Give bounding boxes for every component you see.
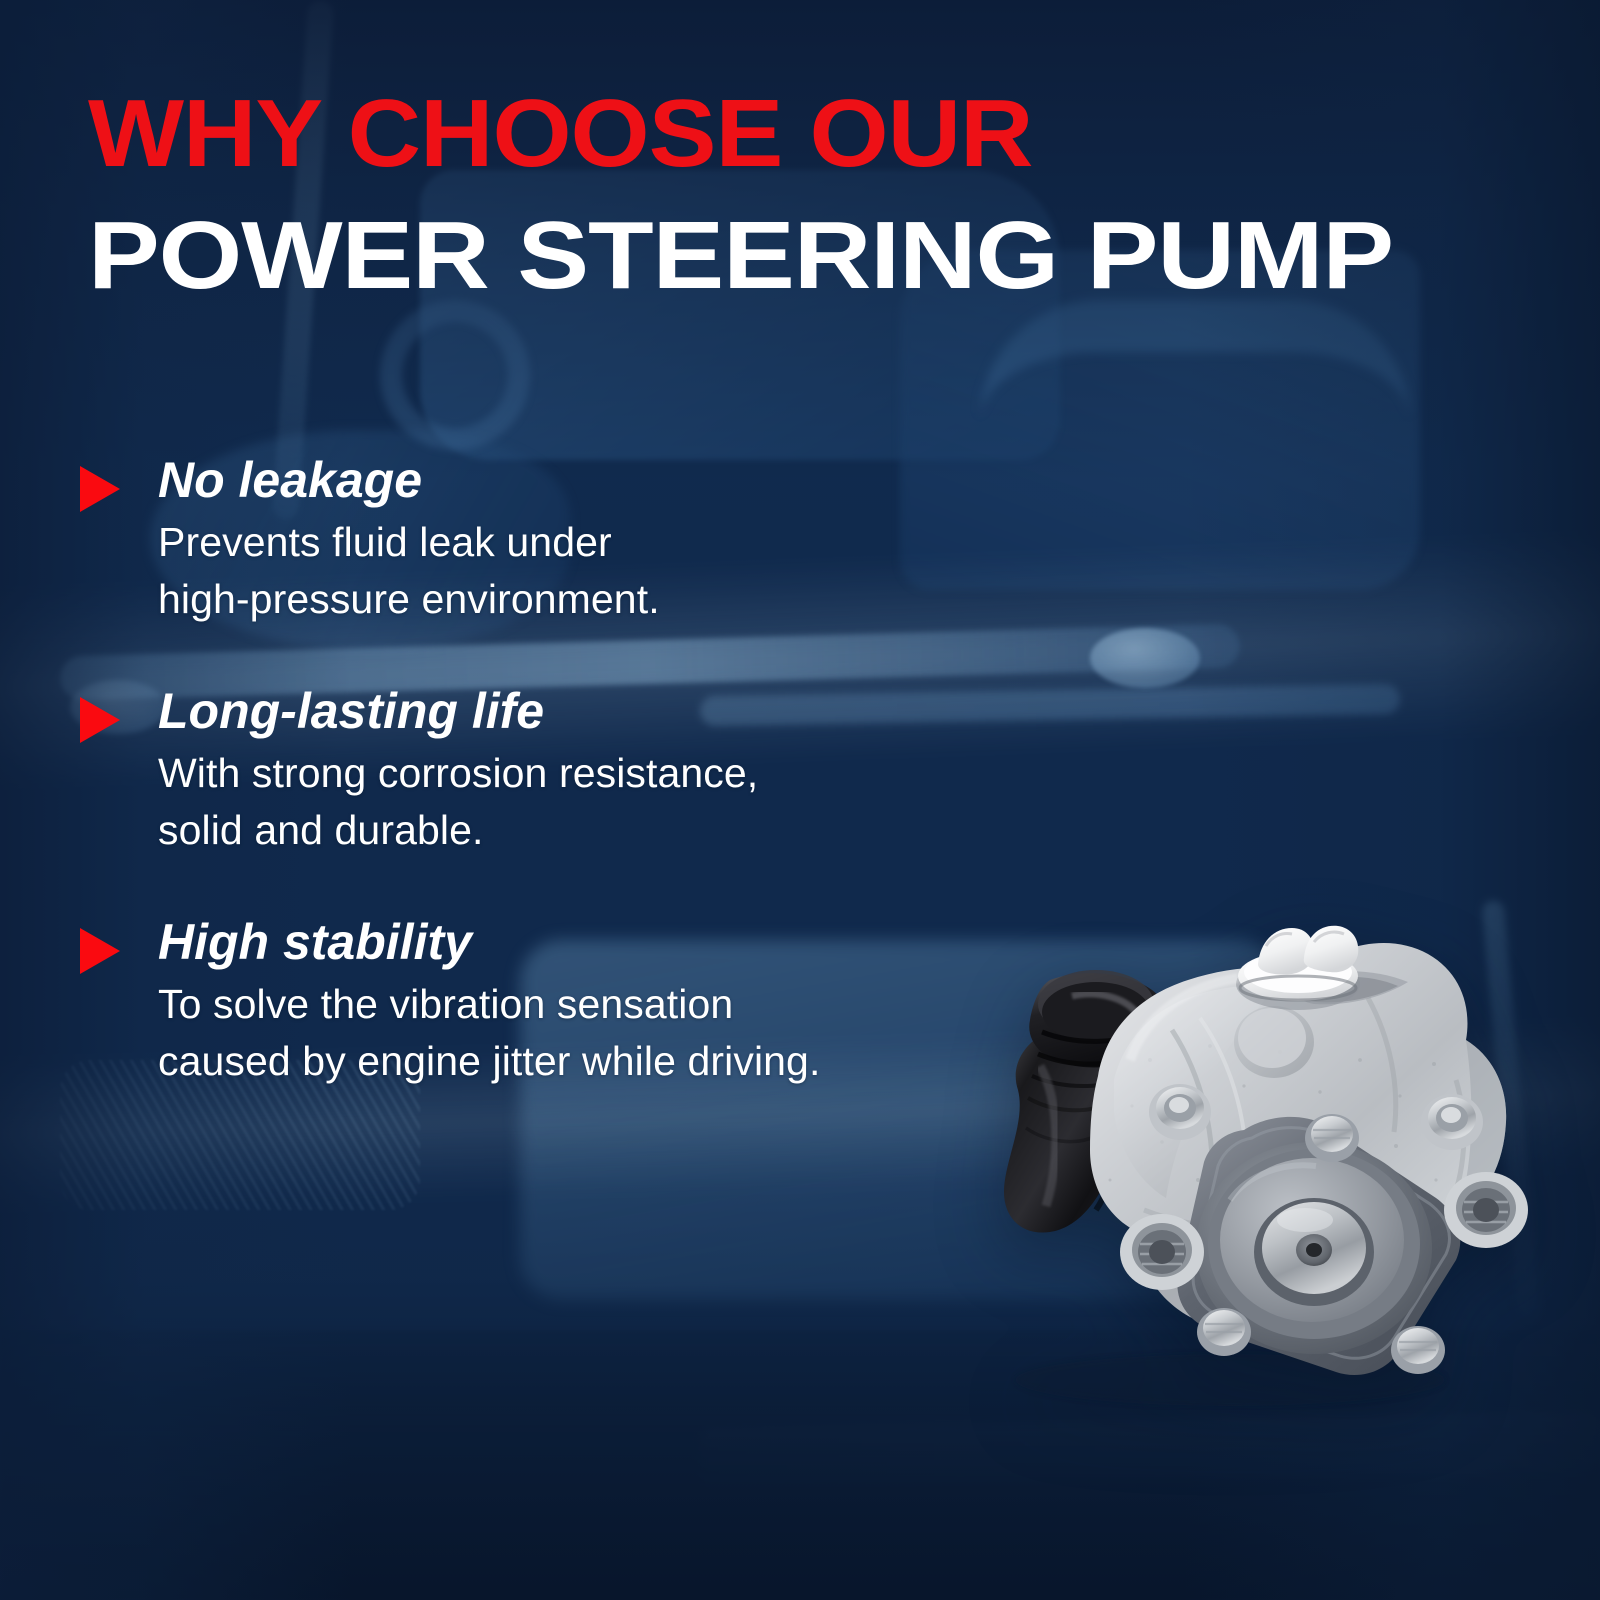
feature-description-long-lasting-life: With strong corrosion resistance, solid … bbox=[158, 745, 1020, 860]
feature-description-high-stability: To solve the vibration sensation caused … bbox=[158, 976, 1020, 1091]
feature-title-high-stability: High stability bbox=[158, 914, 1020, 970]
feature-item-no-leakage: No leakage Prevents fluid leak under hig… bbox=[80, 452, 1020, 629]
feature-description-line: solid and durable. bbox=[158, 802, 1020, 859]
feature-description-line: Prevents fluid leak under bbox=[158, 514, 1020, 571]
headline-block: WHY CHOOSE OUR POWER STEERING PUMP bbox=[88, 86, 1508, 304]
headline-line-1: WHY CHOOSE OUR bbox=[88, 86, 1593, 182]
feature-list: No leakage Prevents fluid leak under hig… bbox=[80, 452, 1020, 1090]
feature-item-long-lasting-life: Long-lasting life With strong corrosion … bbox=[80, 683, 1020, 860]
product-image-power-steering-pump bbox=[900, 880, 1540, 1410]
headline-line-2: POWER STEERING PUMP bbox=[88, 208, 1600, 304]
feature-item-high-stability: High stability To solve the vibration se… bbox=[80, 914, 1020, 1091]
feature-title-no-leakage: No leakage bbox=[158, 452, 1020, 508]
feature-description-line: high-pressure environment. bbox=[158, 571, 1020, 628]
red-triangle-marker-icon bbox=[80, 466, 120, 512]
feature-description-line: To solve the vibration sensation bbox=[158, 976, 1020, 1033]
white-plastic-reservoir-cap bbox=[1236, 926, 1360, 1010]
product-feature-poster: WHY CHOOSE OUR POWER STEERING PUMP No le… bbox=[0, 0, 1600, 1600]
bracket-stud bbox=[1397, 1328, 1439, 1364]
feature-description-line: caused by engine jitter while driving. bbox=[158, 1033, 1020, 1090]
red-triangle-marker-icon bbox=[80, 928, 120, 974]
bracket-stud bbox=[1311, 1116, 1353, 1152]
bracket-stud bbox=[1203, 1310, 1245, 1346]
feature-title-long-lasting-life: Long-lasting life bbox=[158, 683, 1020, 739]
feature-description-no-leakage: Prevents fluid leak under high-pressure … bbox=[158, 514, 1020, 629]
red-triangle-marker-icon bbox=[80, 697, 120, 743]
feature-description-line: With strong corrosion resistance, bbox=[158, 745, 1020, 802]
